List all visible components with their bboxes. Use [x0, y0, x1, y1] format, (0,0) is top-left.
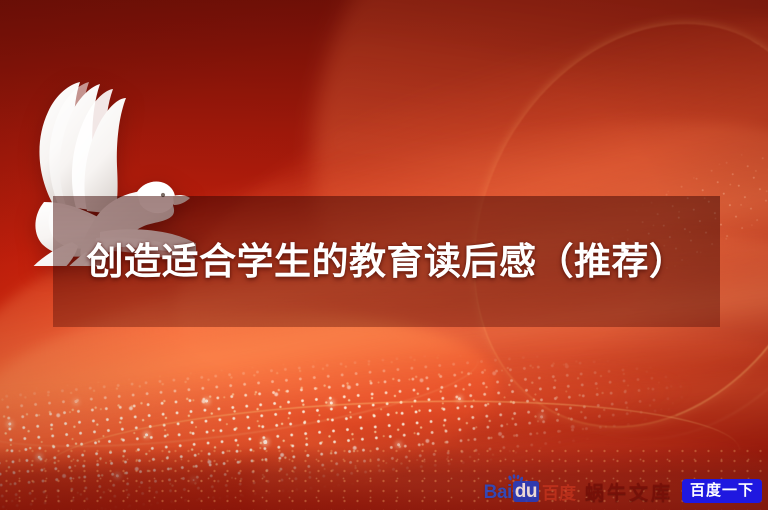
baidu-logo[interactable]: Bai du 百度 — [484, 481, 576, 502]
baidu-search-button[interactable]: 百度一下 — [682, 479, 762, 503]
baidu-logo-du: du — [513, 481, 539, 502]
poster-image: 创造适合学生的教育读后感（推荐） Bai du 百度 蜗牛文库 百度一下 — [0, 0, 768, 510]
page-title: 创造适合学生的教育读后感（推荐） — [67, 237, 707, 287]
sparkle-star — [74, 400, 77, 403]
baidu-logo-cn: 百度 — [542, 485, 576, 502]
title-container: 创造适合学生的教育读后感（推荐） — [53, 196, 720, 327]
baidu-logo-bai: Bai — [484, 483, 512, 502]
watermark-bar: Bai du 百度 蜗牛文库 百度一下 — [484, 476, 762, 506]
site-name-watermark: 蜗牛文库 — [585, 478, 673, 505]
paw-icon — [507, 474, 523, 482]
sparkle-star — [205, 399, 208, 402]
